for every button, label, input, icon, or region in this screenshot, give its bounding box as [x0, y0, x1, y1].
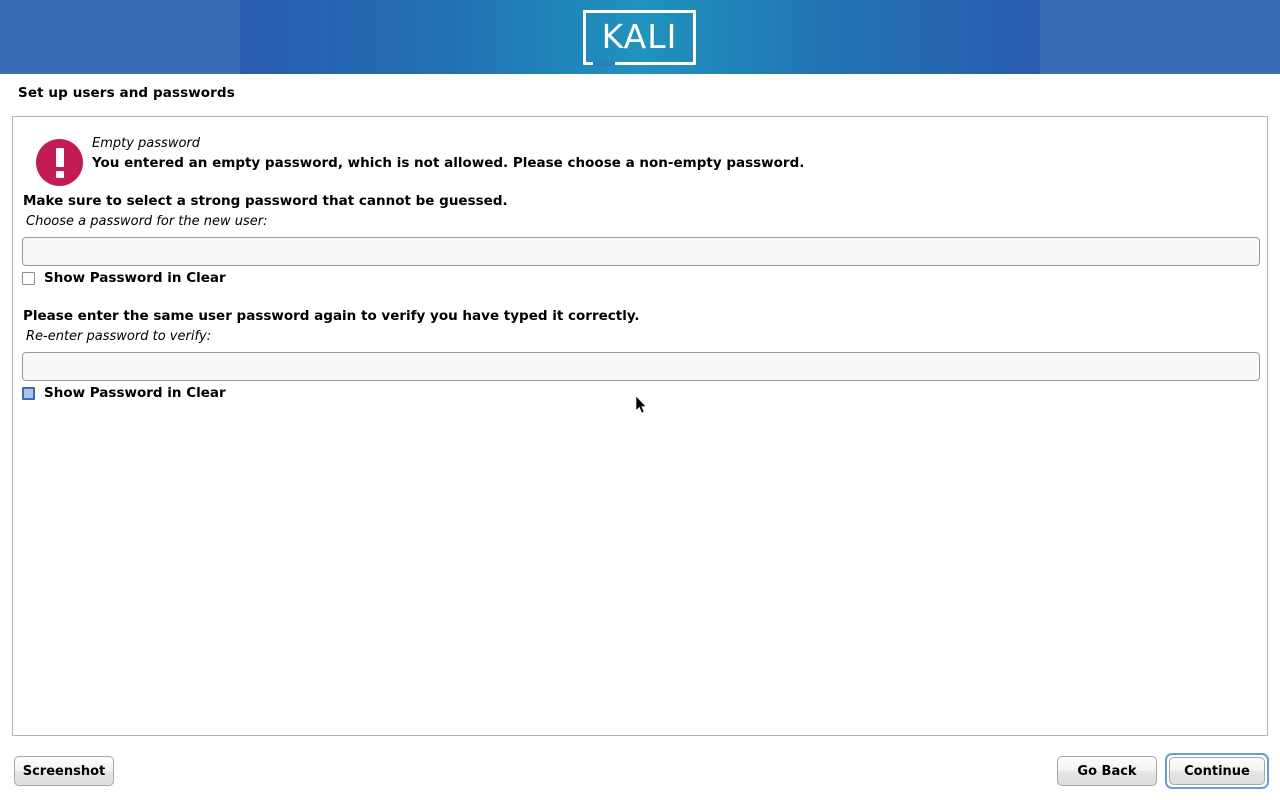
- kali-logo: KALI: [583, 10, 696, 65]
- show-password-label-1: Show Password in Clear: [44, 270, 226, 286]
- exclamation-bar: [56, 148, 64, 167]
- screenshot-button[interactable]: Screenshot: [14, 756, 114, 786]
- kali-banner: KALI: [0, 0, 1280, 74]
- show-password-label-2: Show Password in Clear: [44, 385, 226, 401]
- installer-screen: KALI Set up users and passwords Empty pa…: [0, 0, 1280, 800]
- go-back-button[interactable]: Go Back: [1057, 756, 1157, 786]
- show-password-checkbox-2[interactable]: [22, 387, 35, 400]
- verify-password-heading: Please enter the same user password agai…: [23, 308, 640, 324]
- error-title: Empty password: [92, 136, 200, 151]
- main-panel: Empty password You entered an empty pass…: [12, 116, 1268, 736]
- show-password-checkbox-row-1[interactable]: Show Password in Clear: [22, 270, 226, 286]
- show-password-checkbox-row-2[interactable]: Show Password in Clear: [22, 385, 226, 401]
- password-field-label: Choose a password for the new user:: [26, 214, 268, 229]
- show-password-checkbox-1[interactable]: [22, 272, 35, 285]
- kali-logo-text: KALI: [583, 10, 696, 65]
- password-strength-heading: Make sure to select a strong password th…: [23, 193, 508, 209]
- verify-field-label: Re-enter password to verify:: [26, 329, 211, 344]
- verify-password-input[interactable]: [22, 352, 1260, 381]
- continue-button[interactable]: Continue: [1169, 757, 1265, 785]
- error-message: Empty password You entered an empty pass…: [23, 126, 1259, 196]
- error-exclamation-icon: [36, 139, 83, 186]
- page-title: Set up users and passwords: [18, 85, 235, 101]
- exclamation-dot: [56, 171, 64, 178]
- error-description: You entered an empty password, which is …: [92, 155, 804, 171]
- password-input[interactable]: [22, 237, 1260, 266]
